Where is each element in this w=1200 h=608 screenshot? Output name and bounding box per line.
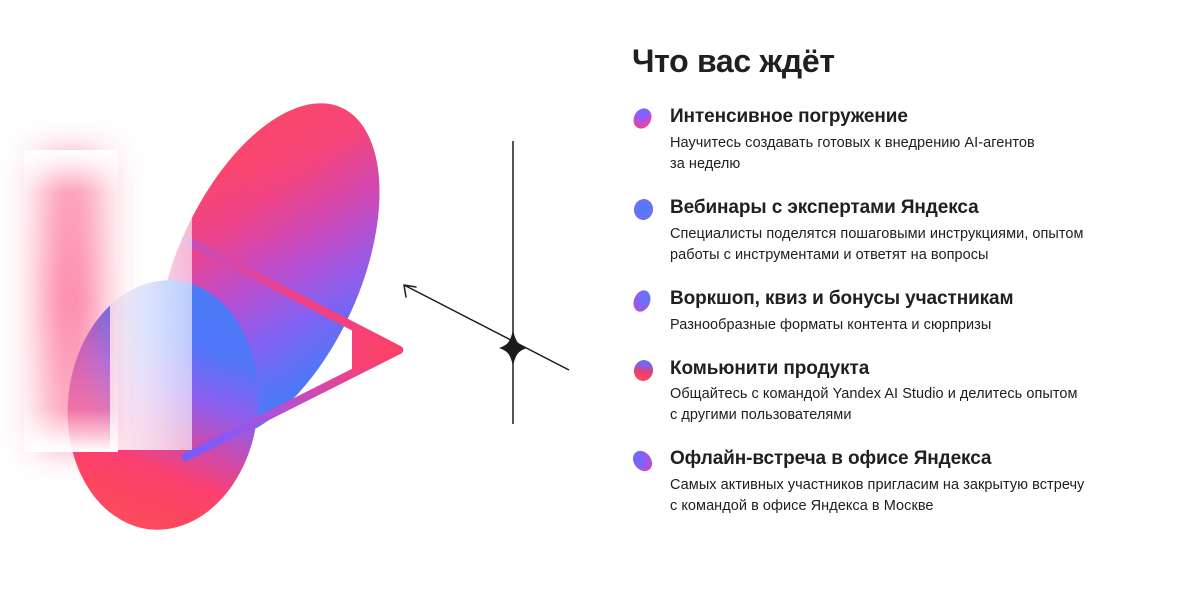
- feature-list: Интенсивное погружение Научитесь создава…: [632, 105, 1172, 517]
- feature-description: Общайтесь с командой Yandex AI Studio и …: [670, 384, 1172, 426]
- gradient-ellipse-bullet-icon: [632, 358, 655, 382]
- feature-title: Комьюнити продукта: [670, 357, 1172, 381]
- feature-description-line: Специалисты поделятся пошаговыми инструк…: [670, 224, 1172, 245]
- feature-description-line: с другими пользователями: [670, 405, 1172, 426]
- feature-description-line: Разнообразные форматы контента и сюрприз…: [670, 315, 1172, 336]
- feature-description: Разнообразные форматы контента и сюрприз…: [670, 315, 1172, 336]
- list-item: Офлайн-встреча в офисе Яндекса Самых акт…: [632, 447, 1172, 517]
- feature-description-line: работы с инструментами и ответят на вопр…: [670, 245, 1172, 266]
- translucent-white-band: [110, 150, 192, 450]
- gradient-ellipse-bullet-icon: [630, 288, 653, 314]
- feature-description-line: Научитесь создавать готовых к внедрению …: [670, 133, 1172, 154]
- list-item: Комьюнити продукта Общайтесь с командой …: [632, 357, 1172, 427]
- gradient-ellipse-bullet-icon: [629, 447, 656, 475]
- axis-diagonal-arrow: [404, 285, 569, 370]
- page-title: Что вас ждёт: [632, 44, 1172, 79]
- gradient-ellipse-bullet-icon: [630, 105, 655, 132]
- list-item: Воркшоп, квиз и бонусы участникам Разноо…: [632, 287, 1172, 336]
- features-panel: Что вас ждёт Интенсивное погружение Науч…: [632, 44, 1172, 517]
- feature-description: Специалисты поделятся пошаговыми инструк…: [670, 224, 1172, 266]
- feature-description-line: с командой в офисе Яндекса в Москве: [670, 496, 1172, 517]
- feature-description-line: Самых активных участников пригласим на з…: [670, 475, 1172, 496]
- list-item: Интенсивное погружение Научитесь создава…: [632, 105, 1172, 175]
- feature-description-line: за неделю: [670, 154, 1172, 175]
- feature-title: Воркшоп, квиз и бонусы участникам: [670, 287, 1172, 311]
- feature-description-line: Общайтесь с командой Yandex AI Studio и …: [670, 384, 1172, 405]
- blurred-pink-band: [24, 150, 118, 452]
- abstract-gradient-artwork: [0, 0, 600, 608]
- list-item: Вебинары с экспертами Яндекса Специалист…: [632, 196, 1172, 266]
- feature-title: Интенсивное погружение: [670, 105, 1172, 129]
- gradient-ellipse-bullet-icon: [632, 197, 654, 221]
- page-root: Что вас ждёт Интенсивное погружение Науч…: [0, 0, 1200, 608]
- feature-title: Офлайн-встреча в офисе Яндекса: [670, 447, 1172, 471]
- feature-description: Научитесь создавать готовых к внедрению …: [670, 133, 1172, 175]
- feature-description: Самых активных участников пригласим на з…: [670, 475, 1172, 517]
- feature-title: Вебинары с экспертами Яндекса: [670, 196, 1172, 220]
